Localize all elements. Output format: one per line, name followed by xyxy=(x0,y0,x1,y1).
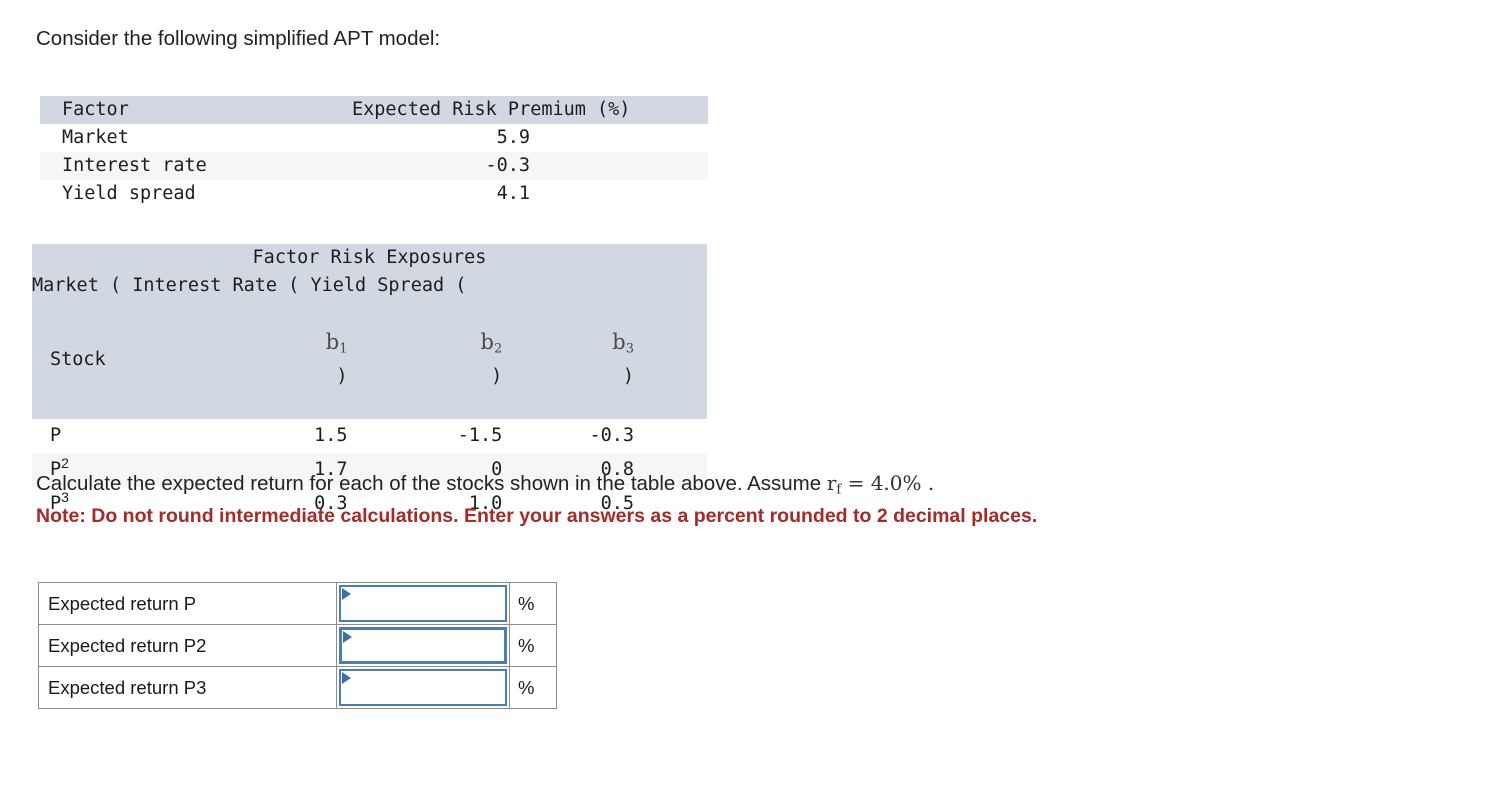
factor-premium: -0.3 xyxy=(352,152,708,180)
table-row: P 1.5 -1.5 -0.3 xyxy=(32,419,707,453)
b3-paren: ) xyxy=(623,366,634,387)
answer-input-cell-p2 xyxy=(337,625,510,667)
percent-label-p: % xyxy=(510,583,557,625)
table-header-row: Factor Expected Risk Premium (%) xyxy=(40,96,708,124)
column-header-premium: Expected Risk Premium (%) xyxy=(352,96,708,124)
answer-input-cell-p3 xyxy=(337,667,510,709)
expected-return-p-input[interactable] xyxy=(353,587,505,622)
factor-premium: 5.9 xyxy=(352,124,708,152)
exposure-table-title: Factor Risk Exposures xyxy=(32,244,707,272)
b2-symbol: b2 xyxy=(481,330,503,354)
column-header-factor: Factor xyxy=(40,96,352,124)
percent-label-p2: % xyxy=(510,625,557,667)
note-text: Note: Do not round intermediate calculat… xyxy=(36,503,1037,529)
risk-free-rate-symbol: rf xyxy=(827,471,841,495)
expected-return-p3-box[interactable] xyxy=(339,669,507,706)
calculate-instruction: Calculate the expected return for each o… xyxy=(36,470,934,503)
expected-return-p2-box[interactable] xyxy=(339,627,507,664)
table-row: Yield spread 4.1 xyxy=(40,180,708,208)
stock-name: P xyxy=(32,419,201,453)
table-row: Interest rate -0.3 xyxy=(40,152,708,180)
exposure-column-names: Market ( Interest Rate ( Yield Spread ( xyxy=(32,272,707,300)
answer-row: Expected return P2 % xyxy=(39,625,557,667)
b3-symbol: b3 xyxy=(612,330,634,354)
factor-name: Interest rate xyxy=(40,152,352,180)
page-title: Consider the following simplified APT mo… xyxy=(36,26,440,52)
exposure-header-title-row: Factor Risk Exposures xyxy=(32,244,707,272)
expected-return-p-box[interactable] xyxy=(339,585,507,622)
stock-b2: -1.5 xyxy=(370,419,539,453)
column-header-b3: b3 ) xyxy=(538,300,707,419)
percent-label-p3: % xyxy=(510,667,557,709)
calculate-instruction-text: Calculate the expected return for each o… xyxy=(36,472,827,495)
expected-return-p2-input[interactable] xyxy=(354,630,506,663)
factor-premium-table: Factor Expected Risk Premium (%) Market … xyxy=(40,96,708,208)
answer-input-cell-p xyxy=(337,583,510,625)
factor-name: Market xyxy=(40,124,352,152)
b1-symbol: b1 xyxy=(326,330,348,354)
column-header-b2: b2 ) xyxy=(370,300,539,419)
factor-name: Yield spread xyxy=(40,180,352,208)
risk-free-rate-value: = 4.0% . xyxy=(841,471,934,495)
expected-return-p3-input[interactable] xyxy=(353,671,505,706)
stock-b3: -0.3 xyxy=(538,419,707,453)
table-row: Market 5.9 xyxy=(40,124,708,152)
exposure-header-names-row: Market ( Interest Rate ( Yield Spread ( xyxy=(32,272,707,300)
exposure-header-symbols-row: Stock b1 ) b2 ) b3 ) xyxy=(32,300,707,419)
stock-b1: 1.5 xyxy=(201,419,370,453)
answer-label-p: Expected return P xyxy=(39,583,337,625)
b2-paren: ) xyxy=(491,366,502,387)
column-header-b1: b1 ) xyxy=(201,300,370,419)
column-header-stock: Stock xyxy=(32,300,201,419)
answer-row: Expected return P3 % xyxy=(39,667,557,709)
answer-row: Expected return P % xyxy=(39,583,557,625)
answer-label-p3: Expected return P3 xyxy=(39,667,337,709)
answer-label-p2: Expected return P2 xyxy=(39,625,337,667)
factor-premium: 4.1 xyxy=(352,180,708,208)
answer-entry-table: Expected return P % Expected return P2 %… xyxy=(38,582,557,709)
b1-paren: ) xyxy=(336,366,347,387)
